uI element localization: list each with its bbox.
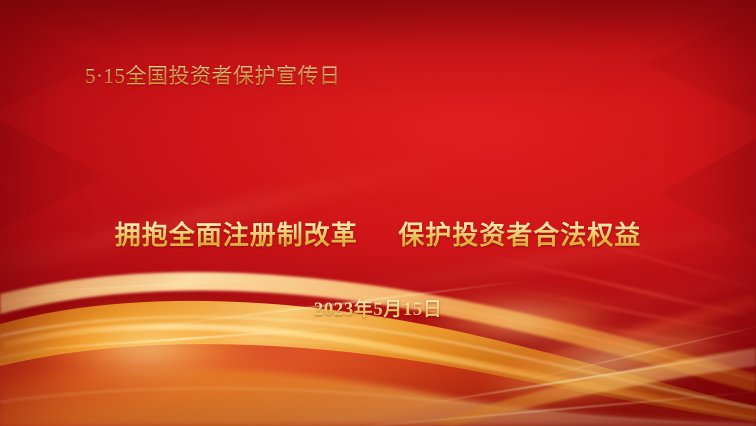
headline-phrase-right: 携手共行动 [393,124,727,186]
poster-kicker: 5·15全国投资者保护宣传日 [85,60,341,90]
slogan-phrase-left: 拥抱全面注册制改革 [115,220,358,250]
poster-headline: 心系投资者 携手共行动 [0,112,756,198]
headline-phrase-left: 心系投资者 [29,124,363,186]
poster-slogan: 拥抱全面注册制改革 保护投资者合法权益 [0,215,756,252]
poster-content: 5·15全国投资者保护宣传日 心系投资者 携手共行动 拥抱全面注册制改革 保护投… [0,0,756,426]
slogan-phrase-right: 保护投资者合法权益 [398,220,641,250]
poster-date: 2023年5月15日 [0,294,756,321]
investor-protection-poster: 5·15全国投资者保护宣传日 心系投资者 携手共行动 拥抱全面注册制改革 保护投… [0,0,756,426]
